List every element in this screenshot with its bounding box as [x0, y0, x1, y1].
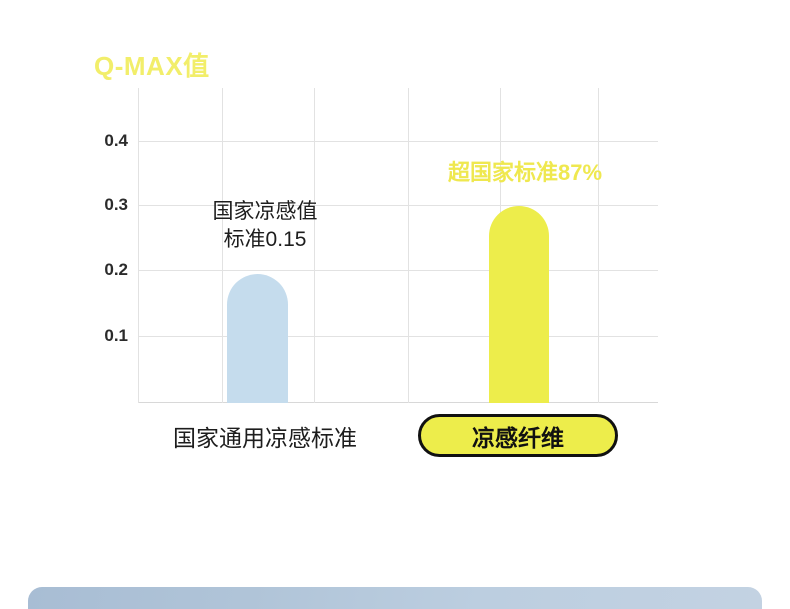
gridline-vertical-4	[408, 88, 409, 403]
gridline-horizontal-0.2	[138, 270, 658, 271]
y-tick-label-0.1: 0.1	[84, 326, 128, 346]
gridline-horizontal-0.4	[138, 141, 658, 142]
y-tick-label-0.4: 0.4	[84, 131, 128, 151]
bottom-decorative-panel	[28, 587, 762, 609]
standard-annotation-line1: 国家凉感值	[180, 198, 350, 226]
gridline-horizontal-0.1	[138, 336, 658, 337]
gridline-vertical-1	[138, 88, 139, 403]
x-axis-label-national-standard: 国家通用凉感标准	[135, 419, 395, 453]
bar-national-standard	[227, 274, 288, 403]
highlight-annotation: 超国家标准87%	[420, 155, 630, 187]
standard-annotation-line2: 标准0.15	[180, 226, 350, 254]
axis-baseline	[138, 402, 658, 403]
gridline-vertical-6	[598, 88, 599, 403]
chart-title: Q-MAX值	[94, 46, 210, 83]
y-axis: 0.4 0.3 0.2 0.1	[84, 88, 128, 403]
y-tick-label-0.2: 0.2	[84, 260, 128, 280]
q-max-chart-card: Q-MAX值 0.4 0.3 0.2 0.1 国家凉感值 标准0.15 超国家标…	[0, 0, 790, 560]
x-axis-label-cooling-fiber-pill: 凉感纤维	[418, 414, 618, 457]
standard-annotation: 国家凉感值 标准0.15	[180, 198, 350, 253]
y-tick-label-0.3: 0.3	[84, 195, 128, 215]
bar-cooling-fiber	[489, 206, 549, 403]
